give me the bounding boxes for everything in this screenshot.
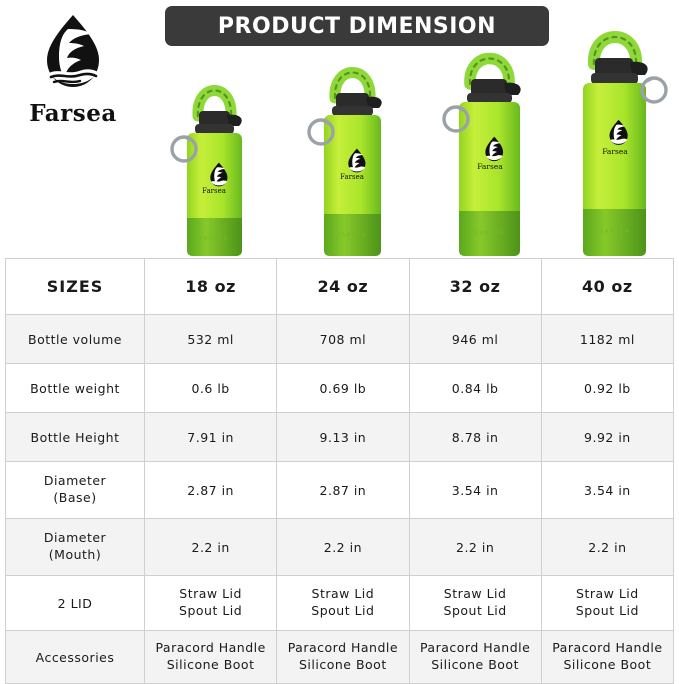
cell-18oz: 532 ml xyxy=(145,315,277,364)
bottle-logo-text: Farsea xyxy=(202,187,226,195)
row-label: Diameter (Base) xyxy=(6,462,145,519)
header-col-40oz: 40 oz xyxy=(541,259,673,315)
cell-32oz: Straw Lid Spout Lid xyxy=(409,576,541,631)
header-col-32oz: 32 oz xyxy=(409,259,541,315)
cell-40oz: Straw Lid Spout Lid xyxy=(541,576,673,631)
product-dimension-infographic: PRODUCT DIMENSION Farsea xyxy=(0,0,679,682)
table-row-bottle-volume: Bottle volume 532 ml 708 ml 946 ml 1182 … xyxy=(6,315,674,364)
header-region: PRODUCT DIMENSION Farsea xyxy=(0,0,679,258)
cell-line1: Straw Lid xyxy=(544,586,671,603)
cell-line2: Silicone Boot xyxy=(147,657,274,674)
cell-line1: Paracord Handle xyxy=(544,640,671,657)
boot-text: FARSEA xyxy=(200,235,229,242)
cell-line2: Silicone Boot xyxy=(544,657,671,674)
cell-line1: Paracord Handle xyxy=(279,640,406,657)
table-row-bottle-height: Bottle Height 7.91 in 9.13 in 8.78 in 9.… xyxy=(6,413,674,462)
row-label-line2: (Mouth) xyxy=(8,547,142,564)
bottle-32oz: Farsea FARSEA xyxy=(423,36,548,258)
row-label: Bottle weight xyxy=(6,364,145,413)
cell-32oz: 8.78 in xyxy=(409,413,541,462)
cell-line1: Straw Lid xyxy=(147,586,274,603)
cell-24oz: Paracord Handle Silicone Boot xyxy=(277,631,409,684)
cell-line2: Spout Lid xyxy=(147,603,274,620)
bottle-40oz: Farsea FARSEA xyxy=(550,20,679,258)
brand-block: Farsea xyxy=(14,12,132,140)
cell-line1: Paracord Handle xyxy=(412,640,539,657)
row-label: 2 LID xyxy=(6,576,145,631)
bottle-logo-text: Farsea xyxy=(340,173,364,181)
cell-18oz: Straw Lid Spout Lid xyxy=(145,576,277,631)
farsea-wave-drop-logo-icon xyxy=(14,12,132,100)
cell-18oz: 2.2 in xyxy=(145,519,277,576)
cell-18oz: Paracord Handle Silicone Boot xyxy=(145,631,277,684)
header-col-24oz: 24 oz xyxy=(277,259,409,315)
row-label: Accessories xyxy=(6,631,145,684)
header-col-18oz: 18 oz xyxy=(145,259,277,315)
bottle-logo-text: Farsea xyxy=(477,162,503,171)
boot-text: FARSEA xyxy=(338,232,367,239)
boot-text: FARSEA xyxy=(601,228,630,235)
cell-24oz: 708 ml xyxy=(277,315,409,364)
cell-32oz: Paracord Handle Silicone Boot xyxy=(409,631,541,684)
row-label: Bottle Height xyxy=(6,413,145,462)
bottle-18oz: Farsea FARSEA xyxy=(155,58,260,258)
row-label-line1: Diameter xyxy=(8,530,142,547)
cell-40oz: 2.2 in xyxy=(541,519,673,576)
cell-line1: Paracord Handle xyxy=(147,640,274,657)
bottle-24oz: Farsea FARSEA xyxy=(290,46,405,258)
cell-line1: Straw Lid xyxy=(279,586,406,603)
table-row-diameter-base: Diameter (Base) 2.87 in 2.87 in 3.54 in … xyxy=(6,462,674,519)
cell-40oz: 3.54 in xyxy=(541,462,673,519)
cell-line2: Silicone Boot xyxy=(279,657,406,674)
cell-18oz: 2.87 in xyxy=(145,462,277,519)
cell-24oz: 9.13 in xyxy=(277,413,409,462)
row-label: Bottle volume xyxy=(6,315,145,364)
cell-18oz: 0.6 lb xyxy=(145,364,277,413)
cell-18oz: 7.91 in xyxy=(145,413,277,462)
header-sizes-label: SIZES xyxy=(6,259,145,315)
cell-line2: Spout Lid xyxy=(544,603,671,620)
specification-table: SIZES 18 oz 24 oz 32 oz 40 oz Bottle vol… xyxy=(5,258,674,684)
row-label-line2: (Base) xyxy=(8,490,142,507)
table-row-lid: 2 LID Straw Lid Spout Lid Straw Lid Spou… xyxy=(6,576,674,631)
cell-32oz: 2.2 in xyxy=(409,519,541,576)
cell-24oz: 2.87 in xyxy=(277,462,409,519)
cell-24oz: Straw Lid Spout Lid xyxy=(277,576,409,631)
row-label-line1: Diameter xyxy=(8,473,142,490)
cell-40oz: Paracord Handle Silicone Boot xyxy=(541,631,673,684)
cell-32oz: 0.84 lb xyxy=(409,364,541,413)
table-header-row: SIZES 18 oz 24 oz 32 oz 40 oz xyxy=(6,259,674,315)
bottle-logo-text: Farsea xyxy=(602,147,628,156)
cell-32oz: 946 ml xyxy=(409,315,541,364)
table-row-accessories: Accessories Paracord Handle Silicone Boo… xyxy=(6,631,674,684)
row-label: Diameter (Mouth) xyxy=(6,519,145,576)
cell-line2: Silicone Boot xyxy=(412,657,539,674)
table-row-diameter-mouth: Diameter (Mouth) 2.2 in 2.2 in 2.2 in 2.… xyxy=(6,519,674,576)
boot-text: FARSEA xyxy=(476,230,505,237)
cell-24oz: 2.2 in xyxy=(277,519,409,576)
table-row-bottle-weight: Bottle weight 0.6 lb 0.69 lb 0.84 lb 0.9… xyxy=(6,364,674,413)
cell-32oz: 3.54 in xyxy=(409,462,541,519)
cell-line2: Spout Lid xyxy=(412,603,539,620)
cell-40oz: 1182 ml xyxy=(541,315,673,364)
page-title: PRODUCT DIMENSION xyxy=(218,14,496,39)
cell-40oz: 9.92 in xyxy=(541,413,673,462)
cell-line2: Spout Lid xyxy=(279,603,406,620)
cell-40oz: 0.92 lb xyxy=(541,364,673,413)
cell-24oz: 0.69 lb xyxy=(277,364,409,413)
brand-name: Farsea xyxy=(14,100,132,127)
cell-line1: Straw Lid xyxy=(412,586,539,603)
